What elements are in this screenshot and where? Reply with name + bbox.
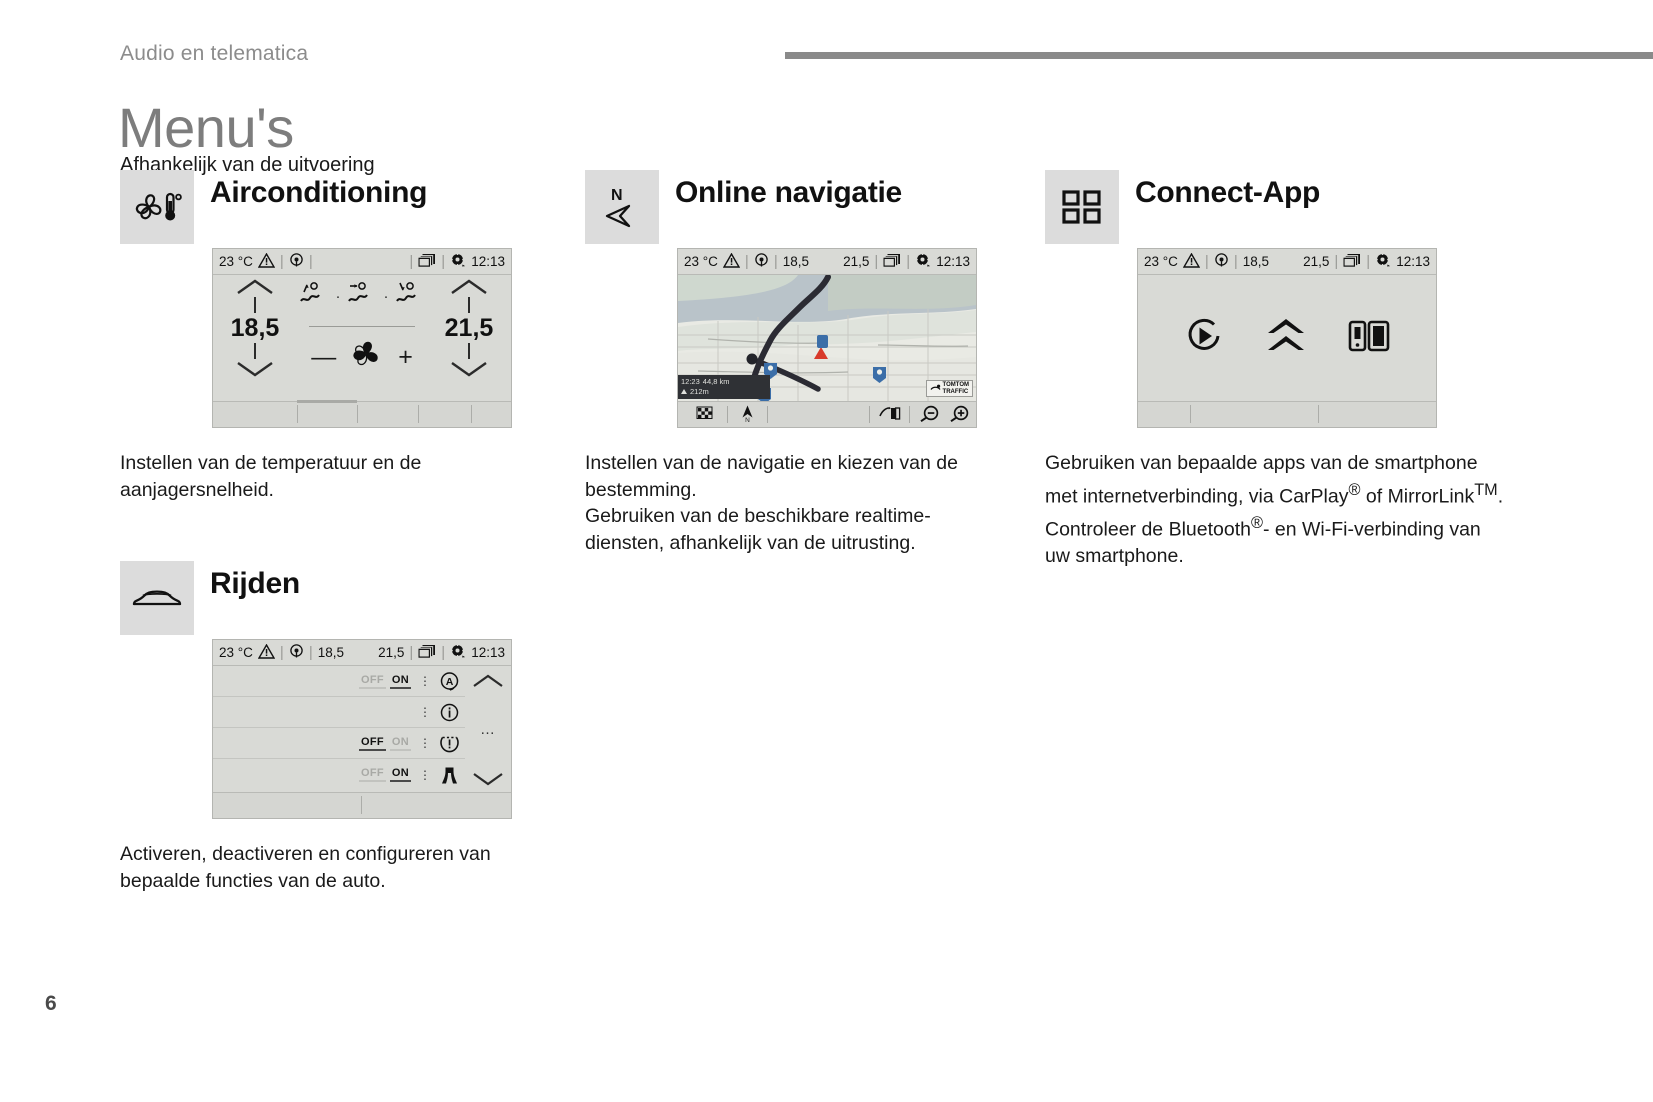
page-title: Menu's [118, 95, 294, 160]
separator-dot: · [384, 292, 389, 302]
toggle-off-label[interactable]: OFF [361, 767, 384, 782]
description-line: Gebruiken van de beschikbare realtime-di… [585, 503, 1005, 556]
fan-speed-control[interactable]: — [299, 339, 425, 374]
left-temperature-value: 18,5 [227, 315, 283, 341]
status-temperature: 23 °C [219, 645, 253, 660]
section-label: Audio en telematica [120, 42, 308, 66]
climate-controls: 18,5 · · [213, 275, 511, 401]
mirror-screen-icon[interactable] [1347, 316, 1391, 361]
connect-app-screen-wrapper: 23 °C | | 18,5 21,5 | [1137, 248, 1505, 428]
screen-footer-tabs[interactable] [213, 792, 511, 818]
map-canvas[interactable]: 12:23 44,8 km 212m TOMTOM [678, 275, 976, 401]
navigation-screen-wrapper: 23 °C | | 18,5 21,5 | [677, 248, 1005, 428]
antenna-icon [289, 644, 304, 662]
status-bar: 23 °C | | 18,5 21,5 | [213, 640, 511, 666]
gear-icon[interactable] [450, 253, 466, 271]
tab-divider [471, 405, 472, 423]
warning-triangle-icon [258, 253, 275, 271]
app-launcher [1138, 275, 1436, 401]
stop-start-toggle[interactable]: OFF ON [361, 674, 409, 689]
status-temp-left: 18,5 [318, 645, 344, 660]
stem [468, 343, 470, 359]
app-grid-icon [1045, 170, 1119, 244]
warning-triangle-icon [1183, 253, 1200, 271]
chevron-up-icon [449, 279, 489, 295]
divider: | [1205, 254, 1209, 269]
table-row[interactable]: OFF ON ⋮ [213, 728, 465, 759]
stem [254, 343, 256, 359]
connect-app-screen[interactable]: 23 °C | | 18,5 21,5 | [1137, 248, 1437, 428]
section-online-navigatie: N Online navigatie 23 °C | [585, 170, 1005, 556]
table-row[interactable]: OFF ON ⋮ A [213, 666, 465, 697]
status-clock: 12:13 [1396, 254, 1430, 269]
tab-divider [418, 405, 419, 423]
header-rule [785, 52, 1653, 59]
warning-triangle-icon [723, 253, 740, 271]
divider: | [774, 254, 778, 269]
description-line: Instellen van de navigatie en kiezen van… [585, 450, 1005, 503]
eta-distance: 44,8 km [703, 377, 730, 387]
divider: | [441, 645, 445, 660]
divider: | [1366, 254, 1370, 269]
turn-arrow-icon [681, 389, 687, 395]
driving-settings-list: OFF ON ⋮ A [213, 666, 511, 792]
toggle-off-label[interactable]: OFF [361, 674, 384, 689]
stem [468, 297, 470, 313]
separator-dot: · [336, 292, 341, 302]
compass-north-icon: N [585, 170, 659, 244]
fan-icon [347, 339, 387, 374]
divider [909, 406, 910, 423]
row-menu-dots[interactable]: ⋮ [419, 676, 431, 686]
warning-triangle-icon [258, 644, 275, 662]
layers-icon[interactable] [883, 253, 901, 271]
status-bar: 23 °C | | | [213, 249, 511, 275]
tab-divider [1190, 405, 1191, 423]
settings-rows: OFF ON ⋮ A [213, 666, 465, 790]
svg-text:N: N [611, 187, 623, 204]
layers-icon[interactable] [418, 253, 436, 271]
media-play-icon[interactable] [1183, 315, 1225, 362]
section-header: Airconditioning [120, 170, 540, 242]
zoom-out-icon[interactable] [919, 405, 940, 425]
divider: | [409, 645, 413, 660]
page-number: 6 [45, 992, 57, 1016]
screen-footer-tabs[interactable] [1138, 401, 1436, 427]
map-view[interactable]: 12:23 44,8 km 212m TOMTOM [678, 275, 976, 401]
zoom-in-icon[interactable] [949, 405, 970, 425]
status-temp-left: 18,5 [783, 254, 809, 269]
section-header: N Online navigatie [585, 170, 1005, 242]
divider: | [906, 254, 910, 269]
tomtom-traffic-badge: TOMTOM TRAFFIC [926, 380, 973, 397]
stop-start-icon: A [437, 671, 461, 692]
description-line-1: Gebruiken van bepaalde apps van de smart… [1045, 450, 1505, 510]
right-temp-control[interactable]: 21,5 [441, 279, 497, 377]
registered-mark: ® [1251, 514, 1263, 532]
row-menu-dots[interactable]: ⋮ [419, 738, 431, 748]
driving-screen[interactable]: 23 °C | | 18,5 21,5 | [212, 639, 512, 819]
info-icon [437, 702, 461, 723]
list-scroll-controls[interactable]: … [465, 666, 511, 792]
divider: | [280, 254, 284, 269]
map-view-icon[interactable] [879, 405, 901, 424]
chevron-down-icon[interactable] [472, 772, 504, 786]
divider: | [309, 645, 313, 660]
chevron-down-icon [449, 361, 489, 377]
section-title: Connect-App [1135, 176, 1320, 210]
divider: | [309, 254, 313, 269]
vent-selector[interactable]: · · [299, 281, 425, 312]
fan-increase-button[interactable]: + [398, 348, 413, 366]
description-line-2: Controleer de Bluetooth®- en Wi-Fi-verbi… [1045, 510, 1505, 570]
row-menu-dots[interactable]: ⋮ [419, 707, 431, 717]
active-tab-indicator [297, 400, 357, 403]
driving-screen-wrapper: 23 °C | | 18,5 21,5 | [212, 639, 540, 819]
section-title: Rijden [210, 567, 300, 601]
app-icon-row [1138, 275, 1436, 401]
text-part: of MirrorLink [1360, 485, 1474, 507]
status-clock: 12:13 [471, 254, 505, 269]
column-middle: N Online navigatie 23 °C | [585, 170, 1005, 556]
section-description: Activeren, deactiveren en configureren v… [120, 841, 540, 894]
divider [767, 406, 768, 423]
status-bar: 23 °C | | 18,5 21,5 | [678, 249, 976, 275]
column-right: Connect-App 23 °C | | 18,5 [1045, 170, 1505, 569]
chevron-up-icon [235, 279, 275, 295]
section-description: Instellen van de temperatuur en de aanja… [120, 450, 540, 503]
screen-footer-tabs[interactable] [213, 401, 511, 427]
status-temp-right: 21,5 [378, 645, 404, 660]
tab-divider [297, 405, 298, 423]
section-description: Gebruiken van bepaalde apps van de smart… [1045, 450, 1505, 569]
status-clock: 12:13 [936, 254, 970, 269]
status-temperature: 23 °C [219, 254, 253, 269]
map-toolbar[interactable]: N [678, 401, 976, 427]
divider: | [745, 254, 749, 269]
toggle-on-label[interactable]: ON [392, 767, 409, 782]
eta-next-distance: 212m [690, 387, 709, 397]
right-temperature-value: 21,5 [441, 315, 497, 341]
toggle-on-label[interactable]: ON [392, 674, 409, 689]
eta-time: 12:23 [681, 377, 700, 387]
tyre-pressure-toggle[interactable]: OFF ON [361, 736, 409, 751]
trademark-mark: TM [1474, 481, 1497, 499]
left-temp-control[interactable]: 18,5 [227, 279, 283, 377]
divider: | [1234, 254, 1238, 269]
tab-divider [1318, 405, 1319, 423]
lane-assist-toggle[interactable]: OFF ON [361, 767, 409, 782]
eta-panel: 12:23 44,8 km 212m [678, 375, 770, 399]
tab-divider [361, 796, 362, 814]
car-icon [120, 561, 194, 635]
fan-decrease-button[interactable]: — [311, 348, 336, 366]
row-menu-dots[interactable]: ⋮ [419, 770, 431, 780]
traffic-icon [930, 384, 941, 393]
citroen-chevron-icon[interactable] [1264, 316, 1308, 361]
status-bar: 23 °C | | 18,5 21,5 | [1138, 249, 1436, 275]
gear-icon[interactable] [1375, 253, 1391, 271]
status-clock: 12:13 [471, 645, 505, 660]
tab-divider [357, 405, 358, 423]
antenna-icon [1214, 253, 1229, 271]
status-temp-left: 18,5 [1243, 254, 1269, 269]
stem [254, 297, 256, 313]
gear-icon[interactable] [915, 253, 931, 271]
toggle-on-label[interactable]: ON [392, 736, 409, 751]
eta-next-row: 212m [681, 387, 767, 397]
table-row[interactable]: OFF ON ⋮ [213, 759, 465, 790]
description-line: Instellen van de temperatuur en de aanja… [120, 450, 540, 503]
section-title: Airconditioning [210, 176, 427, 210]
section-airconditioning: Airconditioning 23 °C | | [120, 170, 540, 503]
status-temperature: 23 °C [684, 254, 718, 269]
section-description: Instellen van de navigatie en kiezen van… [585, 450, 1005, 556]
no-toggle [401, 711, 409, 714]
north-label: N [745, 418, 750, 424]
vent-face-icon[interactable] [346, 281, 379, 312]
layers-icon[interactable] [418, 644, 436, 662]
north-arrow-icon[interactable]: N [740, 405, 755, 424]
registered-mark: ® [1348, 481, 1360, 499]
climate-center: · · — [299, 281, 425, 374]
vent-up-icon[interactable] [298, 281, 331, 312]
divider [309, 326, 415, 327]
chevron-down-icon [235, 361, 275, 377]
svg-text:A: A [445, 676, 453, 688]
layers-icon[interactable] [1343, 253, 1361, 271]
chevron-up-icon[interactable] [472, 674, 504, 688]
toggle-off-label[interactable]: OFF [361, 736, 384, 751]
divider: | [441, 254, 445, 269]
badge-line-2: TRAFFIC [943, 389, 969, 396]
text-part: Controleer de Bluetooth [1045, 518, 1251, 540]
section-connect-app: Connect-App 23 °C | | 18,5 [1045, 170, 1505, 569]
description-line: Activeren, deactiveren en configureren v… [120, 841, 540, 894]
lane-assist-icon [437, 764, 461, 786]
antenna-icon [289, 253, 304, 271]
scroll-more-indicator: … [480, 727, 496, 733]
status-temp-right: 21,5 [843, 254, 869, 269]
navigation-screen[interactable]: 23 °C | | 18,5 21,5 | [677, 248, 977, 428]
status-temperature: 23 °C [1144, 254, 1178, 269]
divider [727, 406, 728, 423]
section-header: Connect-App [1045, 170, 1505, 242]
column-left: Airconditioning 23 °C | | [120, 170, 540, 894]
checkered-flag-icon[interactable] [696, 406, 715, 424]
divider: | [874, 254, 878, 269]
gear-icon[interactable] [450, 644, 466, 662]
vent-down-icon[interactable] [394, 281, 427, 312]
warning-alert-icon [437, 733, 461, 754]
climate-screen[interactable]: 23 °C | | | [212, 248, 512, 428]
eta-arrival-row: 12:23 44,8 km [681, 377, 767, 387]
climate-screen-wrapper: 23 °C | | | [212, 248, 540, 428]
divider: | [409, 254, 413, 269]
divider: | [1334, 254, 1338, 269]
status-temp-right: 21,5 [1303, 254, 1329, 269]
table-row[interactable]: ⋮ [213, 697, 465, 728]
text-part: . [1498, 485, 1503, 507]
page-header: Audio en telematica [0, 0, 1653, 80]
antenna-icon [754, 253, 769, 271]
divider: | [280, 645, 284, 660]
divider [869, 406, 870, 423]
section-rijden: Rijden 23 °C | | 18,5 [120, 561, 540, 894]
section-title: Online navigatie [675, 176, 902, 210]
fan-thermometer-icon [120, 170, 194, 244]
section-header: Rijden [120, 561, 540, 633]
